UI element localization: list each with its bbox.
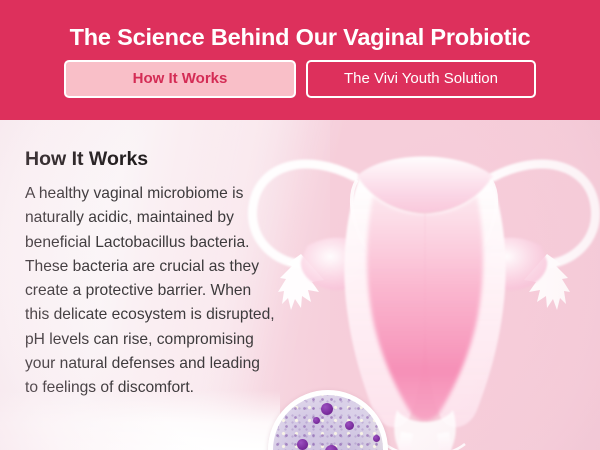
microscopy-inset xyxy=(268,390,388,450)
cervix xyxy=(394,410,456,450)
vaginal-canal xyxy=(385,432,465,450)
right-fallopian-tube xyxy=(493,164,596,264)
content-area: How It Works A healthy vaginal microbiom… xyxy=(0,120,600,450)
right-fimbriae xyxy=(524,254,570,310)
endometrial-cavity xyxy=(367,196,483,421)
tab-how-it-works[interactable]: How It Works xyxy=(64,60,296,98)
uterus-fundus xyxy=(357,157,493,213)
right-ovary xyxy=(477,238,547,290)
left-ovary xyxy=(301,238,371,290)
page-title: The Science Behind Our Vaginal Probiotic xyxy=(0,24,600,51)
tab-bar: How It Works The Vivi Youth Solution xyxy=(0,60,600,98)
promo-panel: The Science Behind Our Vaginal Probiotic… xyxy=(0,0,600,450)
tab-the-vivi-youth-solution[interactable]: The Vivi Youth Solution xyxy=(306,60,536,98)
uterus-body xyxy=(344,178,425,427)
section-body-text: A healthy vaginal microbiome is naturall… xyxy=(25,182,277,401)
header-bar: The Science Behind Our Vaginal Probiotic… xyxy=(0,0,600,120)
section-heading: How It Works xyxy=(25,148,148,171)
left-fimbriae xyxy=(278,254,324,310)
